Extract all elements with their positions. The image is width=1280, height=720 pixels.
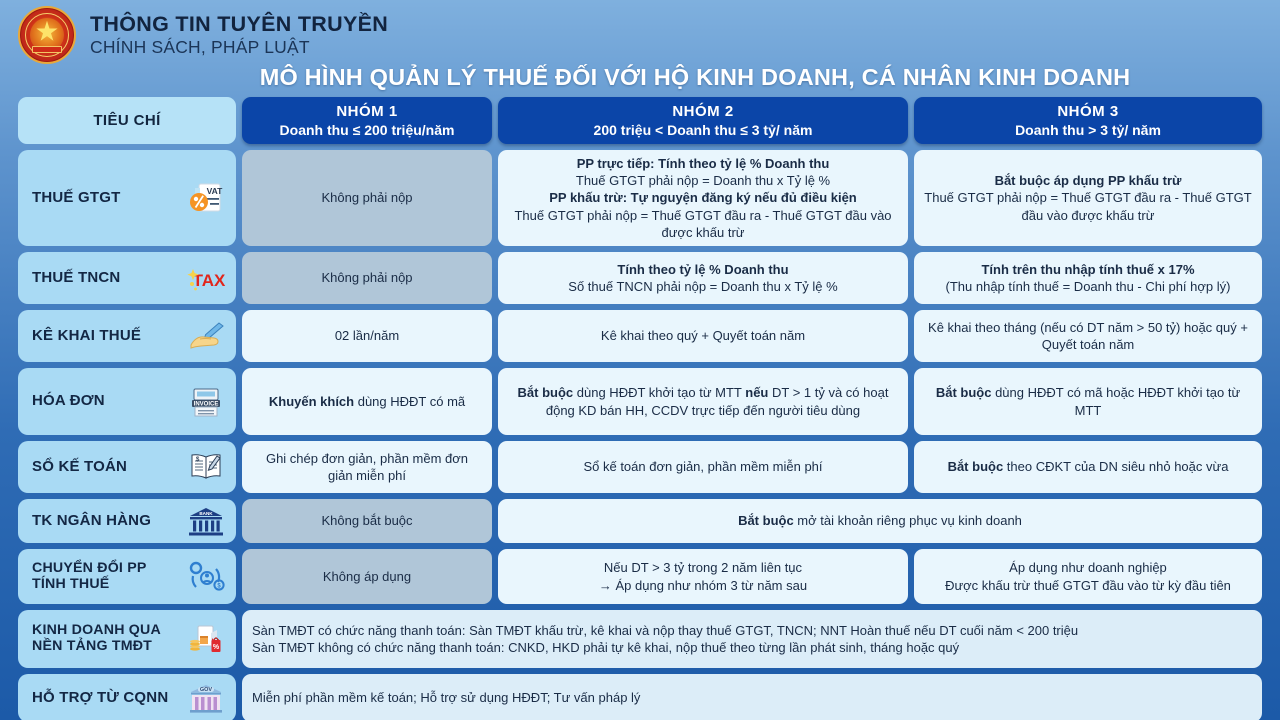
tax-stamp-icon: TAX [184,260,228,296]
row-label-2: THUẾ TNCNTAX [18,252,236,304]
page-header: THÔNG TIN TUYÊN TRUYỀN CHÍNH SÁCH, PHÁP … [0,0,1280,62]
table-row: THUẾ TNCNTAXKhông phải nộpTính theo tỷ l… [18,252,1262,304]
vietnam-national-emblem-icon [18,6,76,64]
table-row: SỔ KẾ TOÁN$Ghi chép đơn giản, phần mềm đ… [18,441,1262,493]
table-row: TK NGÂN HÀNGBANKKhông bắt buộcBắt buộc m… [18,499,1262,543]
header-criteria: TIÊU CHÍ [18,97,236,144]
row-label-9: HỖ TRỢ TỪ CQNNGOV [18,674,236,720]
header-group-2: NHÓM 2 200 triệu < Doanh thu ≤ 3 tỷ/ năm [498,97,908,144]
brand-line-1: THÔNG TIN TUYÊN TRUYỀN [90,12,388,36]
brand-line-2: CHÍNH SÁCH, PHÁP LUẬT [90,37,388,58]
row-label-text: SỔ KẾ TOÁN [32,459,127,476]
cell-row7-group1: Không áp dụng [242,549,492,604]
government-building-icon: GOV [184,680,228,716]
row-label-4: HÓA ĐƠNINVOICE [18,368,236,435]
row-label-1: THUẾ GTGTVAT [18,150,236,246]
row-label-text: CHUYỂN ĐỔI PP TÍNH THUẾ [32,561,178,593]
cell-row6-group2-3: Bắt buộc mở tài khoản riêng phục vụ kinh… [498,499,1262,543]
cell-row5-group2: Sổ kế toán đơn giản, phần mềm miễn phí [498,441,908,493]
header-group-3: NHÓM 3 Doanh thu > 3 tỷ/ năm [914,97,1262,144]
hand-writing-pen-icon [184,318,228,354]
row-label-text: HỖ TRỢ TỪ CQNN [32,690,168,707]
row-label-text: TK NGÂN HÀNG [32,513,151,530]
header-group-1-name: NHÓM 1 [336,103,397,120]
header-group-3-desc: Doanh thu > 3 tỷ/ năm [1015,122,1161,138]
cell-row3-group2: Kê khai theo quý + Quyết toán năm [498,310,908,362]
header-group-3-name: NHÓM 3 [1057,103,1118,120]
header-group-2-desc: 200 triệu < Doanh thu ≤ 3 tỷ/ năm [594,122,813,138]
header-group-1: NHÓM 1 Doanh thu ≤ 200 triệu/năm [242,97,492,144]
table-row: KÊ KHAI THUẾ02 lần/nămKê khai theo quý +… [18,310,1262,362]
cell-row1-group1: Không phải nộp [242,150,492,246]
row-label-text: THUẾ GTGT [32,190,120,207]
table-row: THUẾ GTGTVATKhông phải nộpPP trực tiếp: … [18,150,1262,246]
bank-building-icon: BANK [184,503,228,539]
header-group-2-name: NHÓM 2 [672,103,733,120]
cell-row2-group1: Không phải nộp [242,252,492,304]
vat-document-percent-icon: VAT [184,180,228,216]
svg-text:VAT: VAT [207,186,224,196]
table-row: KINH DOANH QUA NỀN TẢNG TMĐT%Sàn TMĐT có… [18,610,1262,668]
cell-row3-group3: Kê khai theo tháng (nếu có DT năm > 50 t… [914,310,1262,362]
row-label-text: HÓA ĐƠN [32,393,105,410]
table-row: CHUYỂN ĐỔI PP TÍNH THUẾ$Không áp dụngNếu… [18,549,1262,604]
row-label-text: THUẾ TNCN [32,270,120,287]
row-label-7: CHUYỂN ĐỔI PP TÍNH THUẾ$ [18,549,236,604]
table-header-row: TIÊU CHÍ NHÓM 1 Doanh thu ≤ 200 triệu/nă… [18,97,1262,144]
ecommerce-shopping-bag-icon: % [184,621,228,657]
cell-row5-group3: Bắt buộc theo CĐKT của DN siêu nhỏ hoặc … [914,441,1262,493]
row-label-text: KINH DOANH QUA NỀN TẢNG TMĐT [32,623,178,655]
page-title: MÔ HÌNH QUẢN LÝ THUẾ ĐỐI VỚI HỘ KINH DOA… [0,62,1280,97]
comparison-table: TIÊU CHÍ NHÓM 1 Doanh thu ≤ 200 triệu/nă… [0,97,1280,720]
svg-text:TAX: TAX [193,271,226,290]
table-row: HÓA ĐƠNINVOICEKhuyến khích dùng HĐĐT có … [18,368,1262,435]
table-row: HỖ TRỢ TỪ CQNNGOVMiễn phí phần mềm kế to… [18,674,1262,720]
cell-row1-group3: Bắt buộc áp dụng PP khấu trừThuế GTGT ph… [914,150,1262,246]
accounting-book-icon: $ [184,449,228,485]
header-group-1-desc: Doanh thu ≤ 200 triệu/năm [280,122,455,138]
brand-titles: THÔNG TIN TUYÊN TRUYỀN CHÍNH SÁCH, PHÁP … [90,12,388,58]
cell-row4-group2: Bắt buộc dùng HĐĐT khởi tạo từ MTT nếu D… [498,368,908,435]
cell-row6-group1: Không bắt buộc [242,499,492,543]
row-label-3: KÊ KHAI THUẾ [18,310,236,362]
cell-row9-all-groups: Miễn phí phần mềm kế toán; Hỗ trợ sử dụn… [242,674,1262,720]
tax-method-conversion-icon: $ [184,559,228,595]
cell-row5-group1: Ghi chép đơn giản, phần mềm đơn giản miễ… [242,441,492,493]
cell-row2-group3: Tính trên thu nhập tính thuế x 17%(Thu n… [914,252,1262,304]
svg-text:GOV: GOV [200,687,213,693]
cell-row7-group2: Nếu DT > 3 tỷ trong 2 năm liên tục→ Áp d… [498,549,908,604]
invoice-printer-icon: INVOICE [184,384,228,420]
cell-row7-group3: Áp dụng như doanh nghiệpĐược khấu trừ th… [914,549,1262,604]
svg-text:BANK: BANK [199,511,213,516]
row-label-6: TK NGÂN HÀNGBANK [18,499,236,543]
cell-row3-group1: 02 lần/năm [242,310,492,362]
cell-row4-group1: Khuyến khích dùng HĐĐT có mã [242,368,492,435]
cell-row4-group3: Bắt buộc dùng HĐĐT có mã hoặc HĐĐT khởi … [914,368,1262,435]
row-label-text: KÊ KHAI THUẾ [32,328,141,345]
cell-row2-group2: Tính theo tỷ lệ % Doanh thuSố thuế TNCN … [498,252,908,304]
cell-row8-all-groups: Sàn TMĐT có chức năng thanh toán: Sàn TM… [242,610,1262,668]
svg-text:%: % [213,644,220,651]
row-label-5: SỔ KẾ TOÁN$ [18,441,236,493]
cell-row1-group2: PP trực tiếp: Tính theo tỷ lệ % Doanh th… [498,150,908,246]
row-label-8: KINH DOANH QUA NỀN TẢNG TMĐT% [18,610,236,668]
